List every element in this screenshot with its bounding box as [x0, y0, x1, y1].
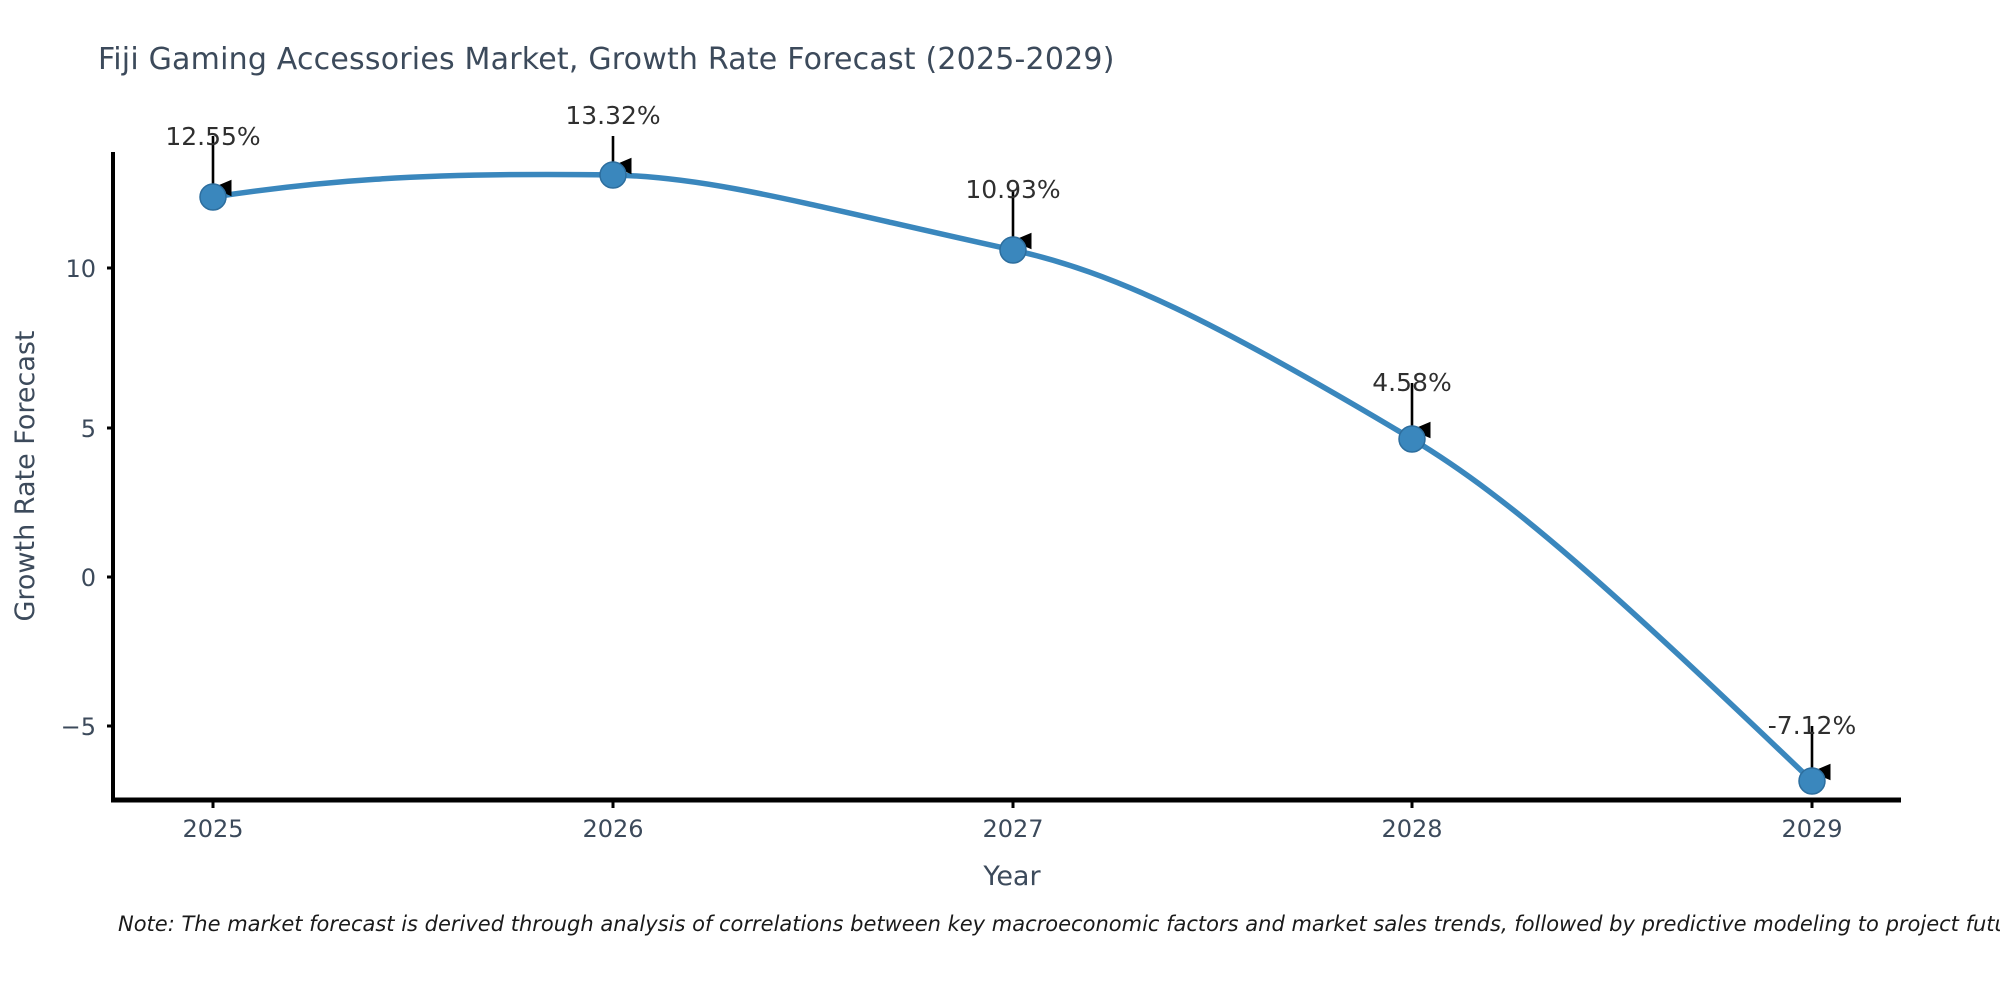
y-tick-label-minus5: −5 [61, 713, 96, 741]
y-tick-label-0: 0 [81, 564, 96, 592]
line-chart-plot: 10 5 0 −5 Growth Rate Forecast 2025 2026… [0, 0, 2000, 1000]
data-label-2025: 12.55% [165, 122, 260, 151]
data-point-2029 [1799, 768, 1825, 794]
x-tick-label-2025: 2025 [182, 815, 243, 843]
annotation-arrows [213, 136, 1812, 772]
data-label-2026: 13.32% [565, 101, 660, 130]
x-tick-label-2028: 2028 [1381, 815, 1442, 843]
data-point-2028 [1399, 426, 1425, 452]
data-label-2027: 10.93% [965, 175, 1060, 204]
y-tick-label-5: 5 [81, 415, 96, 443]
y-tick-label-10: 10 [65, 255, 96, 283]
data-label-2028: 4.58% [1372, 368, 1451, 397]
data-line-series [213, 174, 1812, 781]
data-point-2025 [200, 184, 226, 210]
data-point-markers [200, 162, 1825, 794]
x-tick-label-2027: 2027 [982, 815, 1043, 843]
data-label-2029: -7.12% [1768, 711, 1856, 740]
x-tick-label-2029: 2029 [1781, 815, 1842, 843]
y-axis-title: Growth Rate Forecast [10, 330, 41, 621]
x-tick-label-2026: 2026 [582, 815, 643, 843]
data-point-2026 [600, 162, 626, 188]
chart-footnote: Note: The market forecast is derived thr… [118, 912, 2000, 936]
x-axis-title: Year [982, 861, 1041, 892]
chart-figure: Fiji Gaming Accessories Market, Growth R… [0, 0, 2000, 1000]
data-point-2027 [1000, 237, 1026, 263]
